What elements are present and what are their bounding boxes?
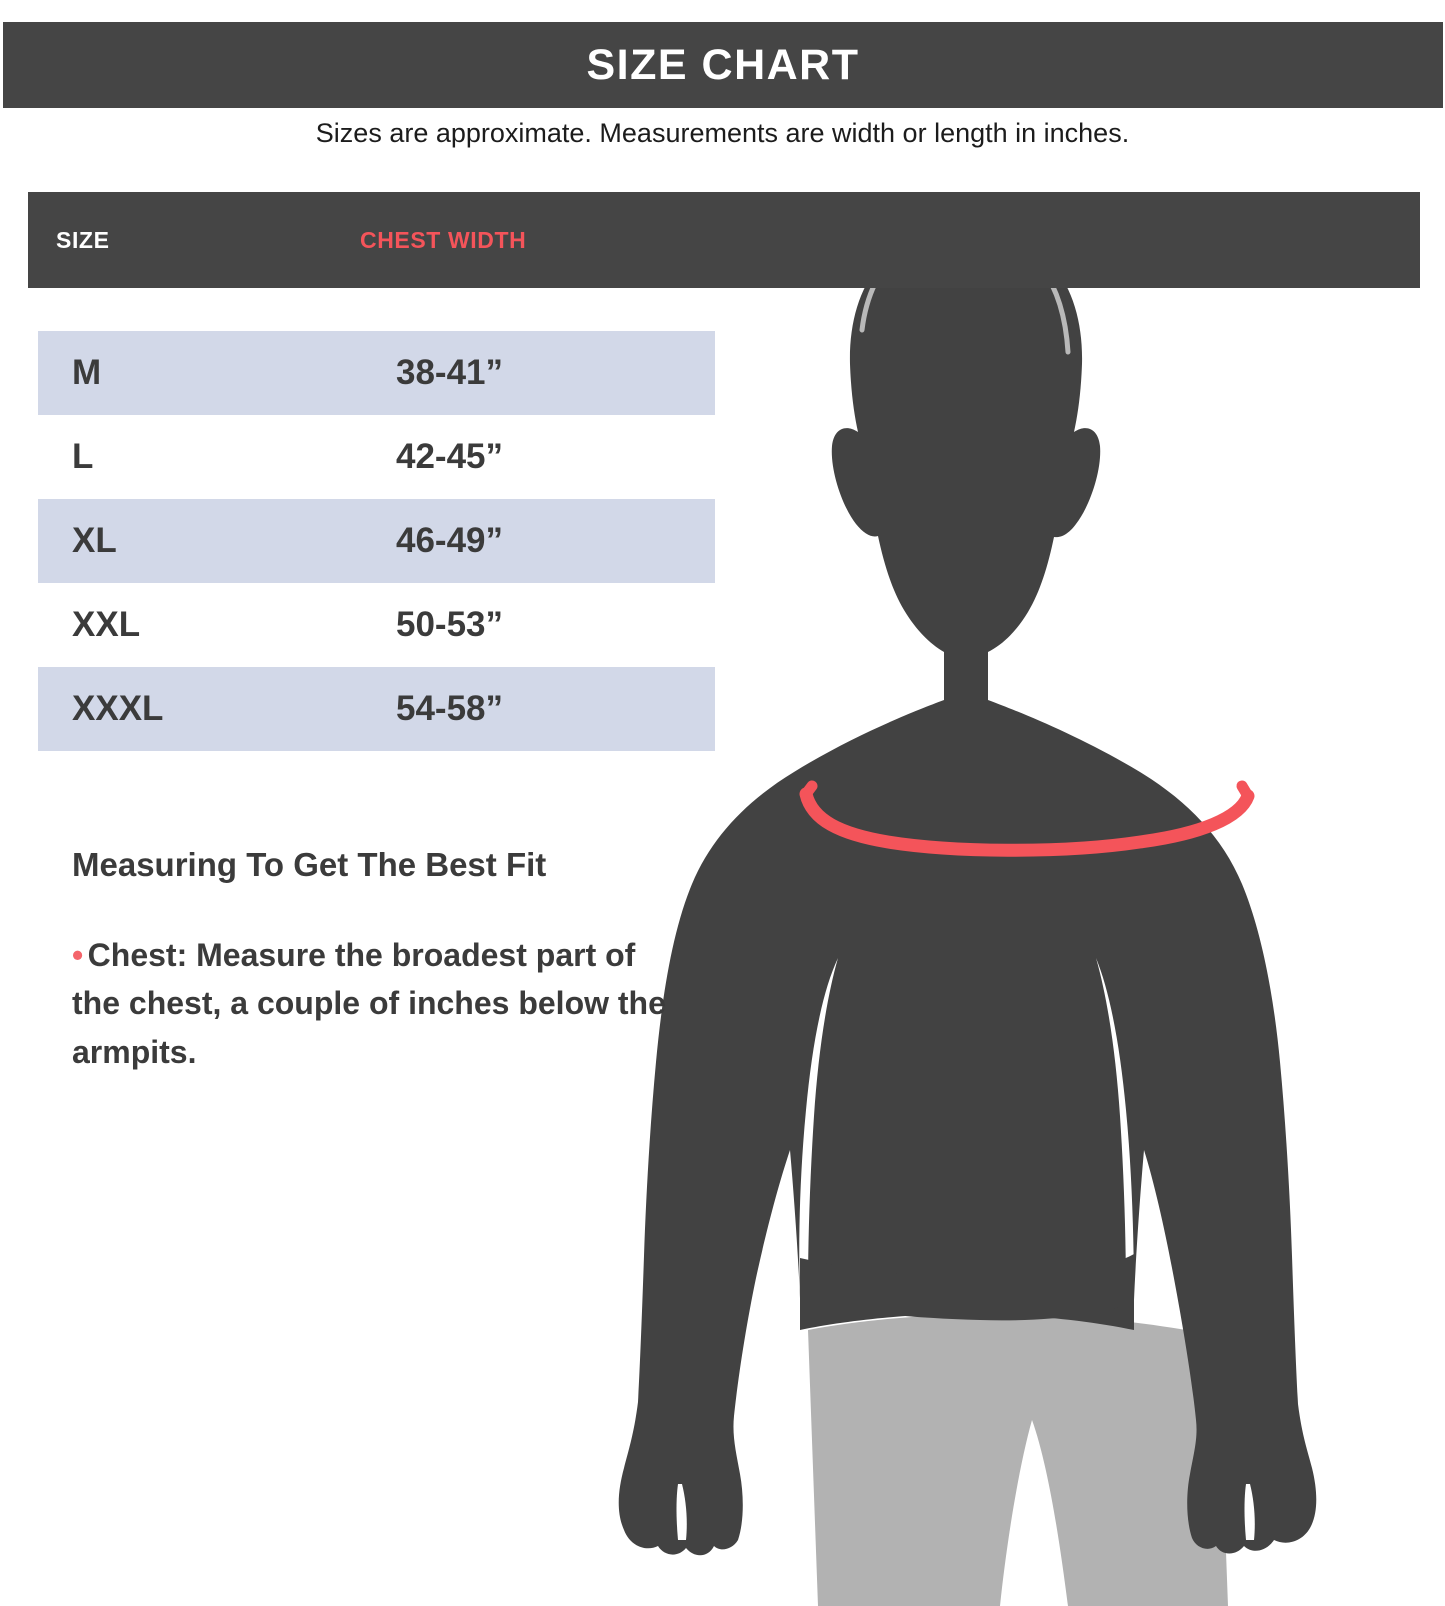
table-row: XL 46-49” (0, 499, 1445, 583)
size-table-body: M 38-41” L 42-45” XL 46-49” XXL 50-53” X… (0, 331, 1445, 751)
cell-chest-width: 46-49” (396, 499, 503, 583)
table-header-bar: SIZE CHEST WIDTH (28, 192, 1420, 288)
right-hand-detail (1245, 1484, 1255, 1540)
chest-measuring-tape-arc (806, 794, 1248, 850)
cell-chest-width: 50-53” (396, 583, 503, 667)
size-chart-page: SIZE CHART Sizes are approximate. Measur… (0, 0, 1445, 1606)
left-arm-gap (799, 958, 838, 1298)
right-arm-gap (1096, 958, 1134, 1300)
left-hand-detail (677, 1484, 687, 1540)
title-bar: SIZE CHART (3, 22, 1443, 108)
bullet-icon: • (72, 937, 83, 973)
cell-size: XXXL (72, 667, 163, 751)
measuring-notes-heading: Measuring To Get The Best Fit (72, 845, 692, 885)
table-row: M 38-41” (0, 331, 1445, 415)
row-band (38, 331, 715, 415)
note-list-item: • Chest: Measure the broadest part of th… (72, 931, 692, 1077)
shirt-hem (800, 1254, 1134, 1320)
chest-tape-tip-left (806, 786, 812, 794)
table-row: L 42-45” (0, 415, 1445, 499)
cell-size: M (72, 331, 101, 415)
cell-size: L (72, 415, 93, 499)
table-row: XXXL 54-58” (0, 667, 1445, 751)
page-title: SIZE CHART (587, 44, 860, 87)
cell-size: XL (72, 499, 117, 583)
chest-tape-tip-right (1242, 786, 1248, 796)
pants-shape (808, 1314, 1228, 1606)
measuring-notes: Measuring To Get The Best Fit • Chest: M… (72, 845, 692, 1092)
row-band (38, 415, 715, 499)
note-item-text: Chest: Measure the broadest part of the … (72, 937, 666, 1070)
cell-size: XXL (72, 583, 140, 667)
cell-chest-width: 42-45” (396, 415, 503, 499)
cell-chest-width: 38-41” (396, 331, 503, 415)
subtitle-text: Sizes are approximate. Measurements are … (0, 118, 1445, 149)
table-row: XXL 50-53” (0, 583, 1445, 667)
column-header-chest-width: CHEST WIDTH (360, 192, 526, 288)
column-header-size: SIZE (56, 192, 110, 288)
row-band (38, 499, 715, 583)
cell-chest-width: 54-58” (396, 667, 503, 751)
